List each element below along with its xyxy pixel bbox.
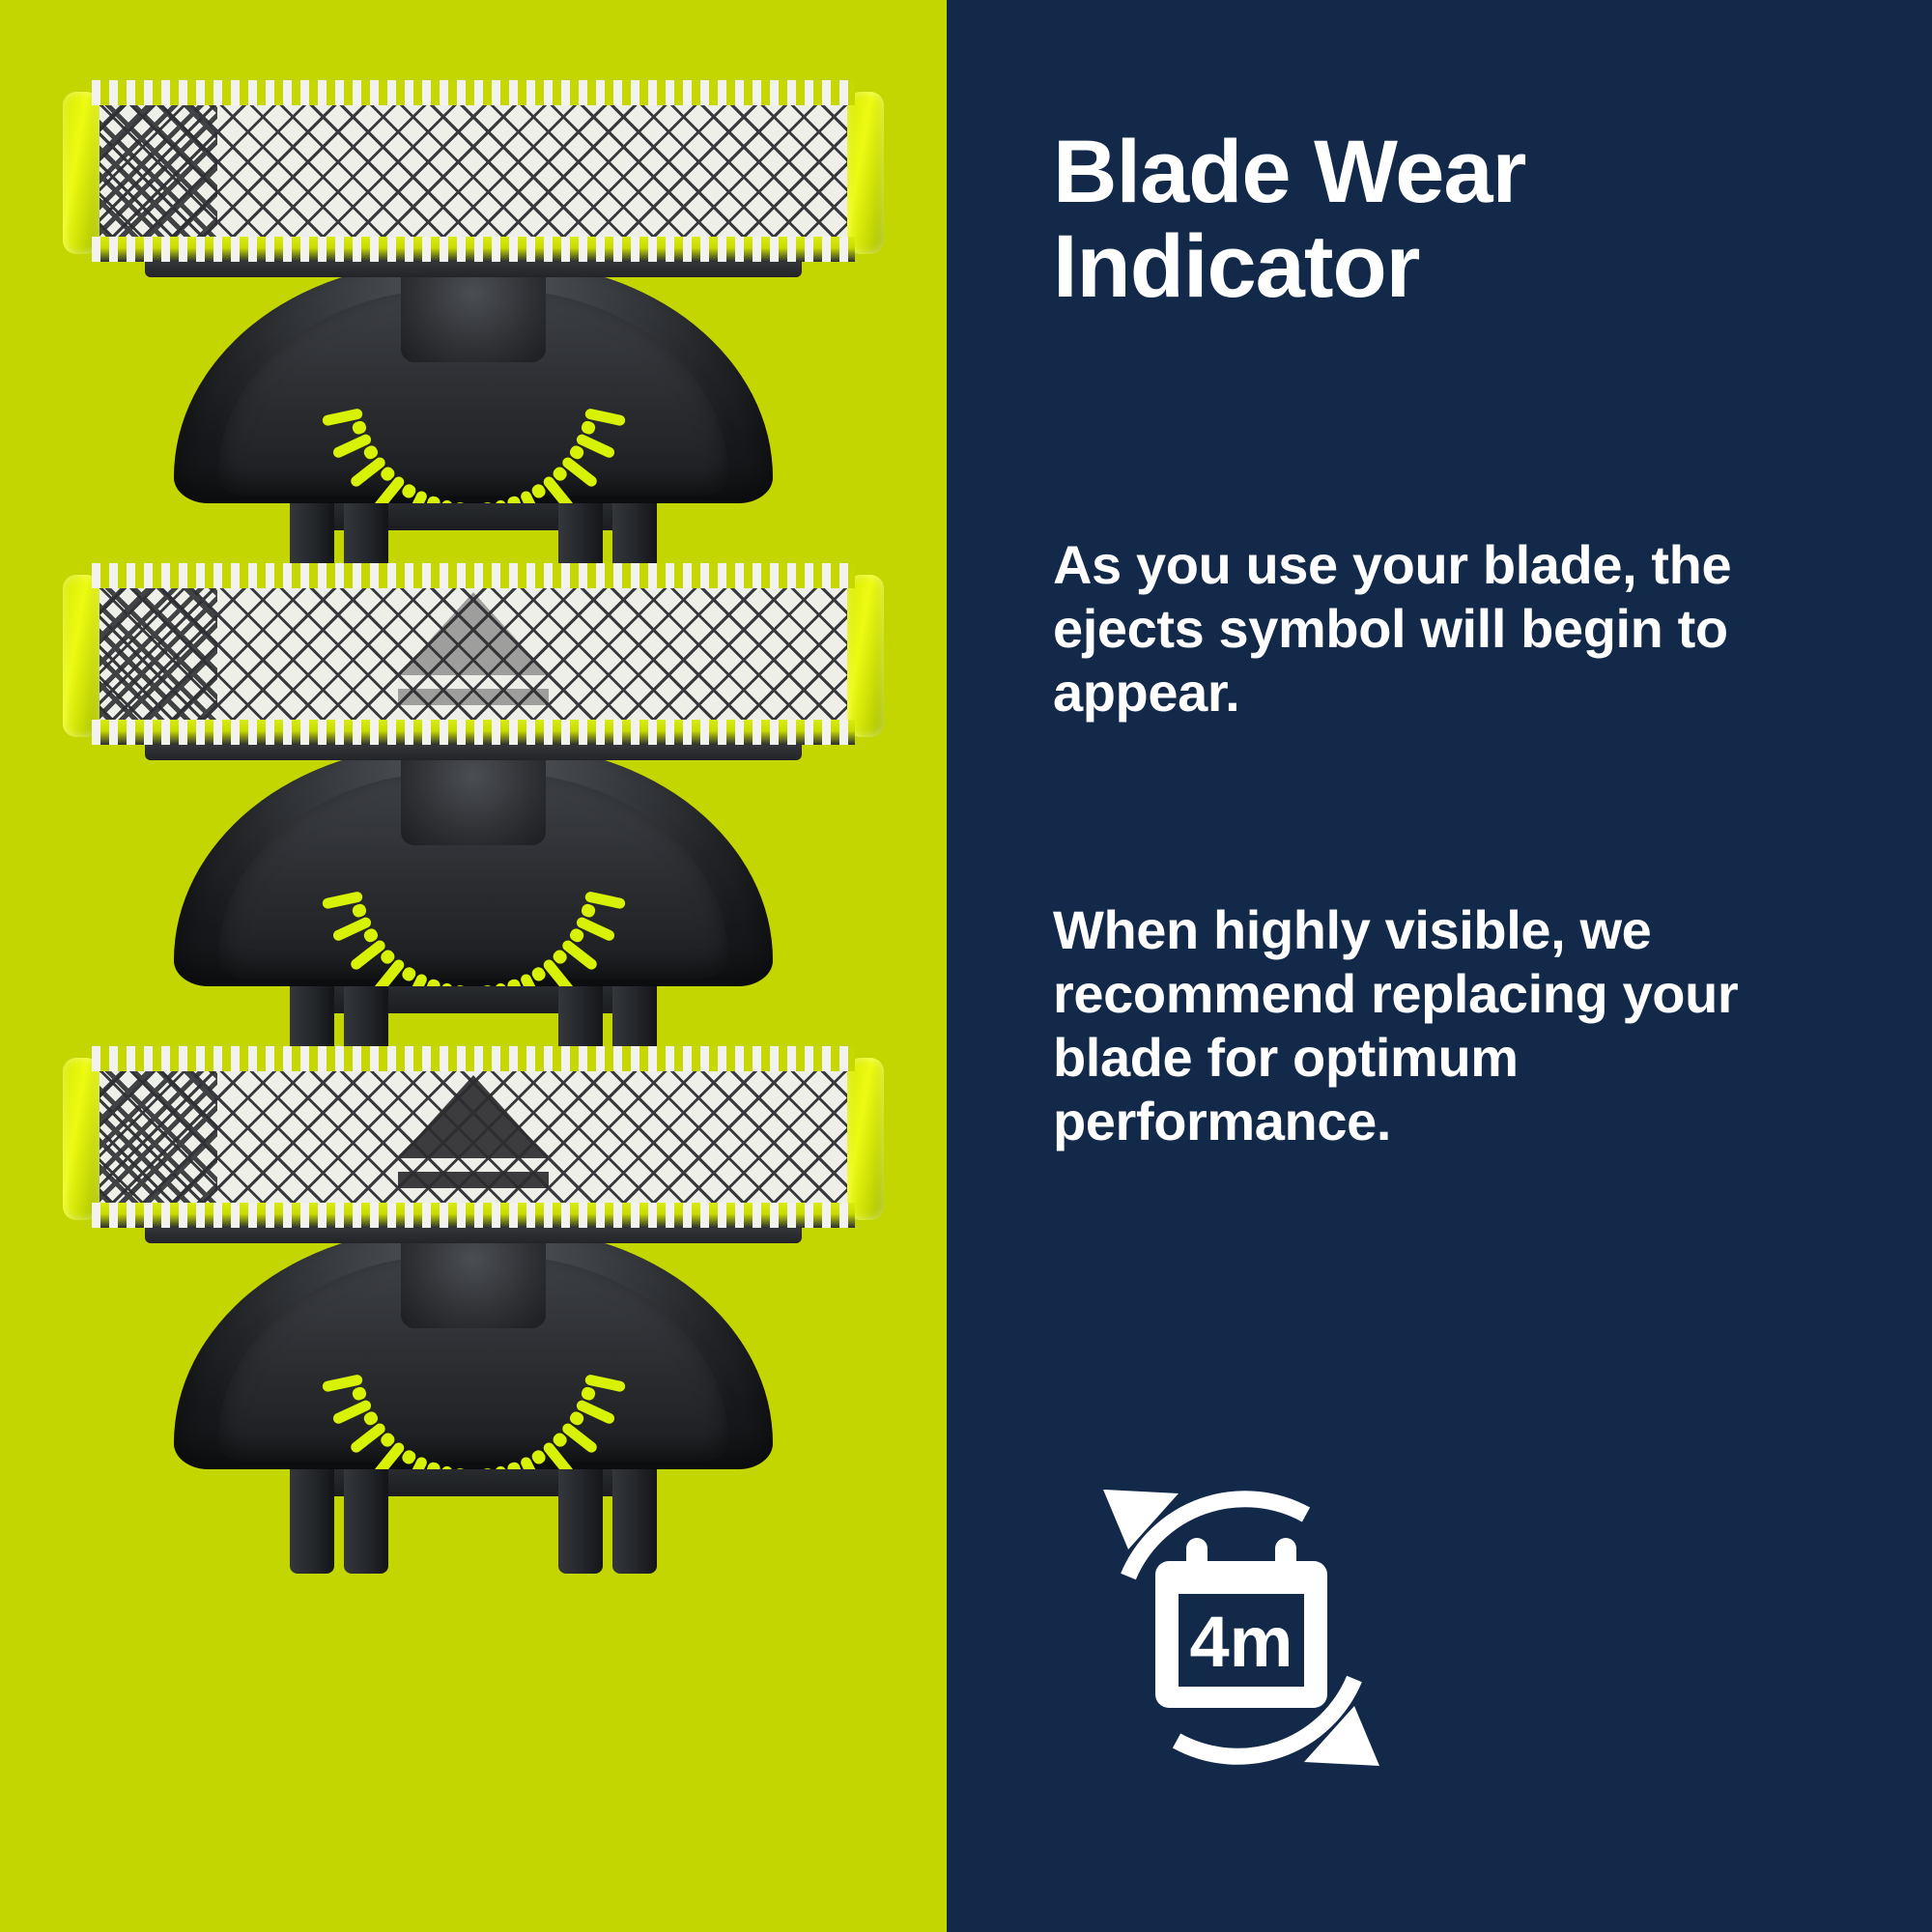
blade-mesh-dense-edge	[92, 1060, 217, 1214]
wear-tick-dot	[480, 985, 495, 986]
wear-tick-dot	[505, 1461, 522, 1469]
blade-cartridge	[53, 555, 894, 749]
eject-bar-icon	[398, 689, 549, 705]
calendar-month-label: 4m	[1190, 1602, 1293, 1682]
blade-endcap-right-icon	[847, 1058, 884, 1220]
blade-cartridge	[53, 1038, 894, 1232]
wear-tick-dot	[425, 495, 441, 503]
blade-endcap-left-icon	[63, 575, 99, 737]
blade-teeth-bottom-icon	[92, 1203, 855, 1228]
blade-teeth-top-icon	[92, 563, 855, 588]
left-green-panel	[0, 0, 947, 1932]
eject-symbol-icon	[386, 1075, 560, 1191]
holder-leg	[558, 1458, 603, 1574]
blade-stage-replace	[53, 1038, 894, 1232]
blade-stage-new	[53, 72, 894, 266]
wear-tick-dot	[453, 985, 468, 986]
wear-tick-dot	[425, 978, 441, 986]
blade-stage-worn	[53, 555, 894, 749]
wear-tick-dot	[453, 502, 468, 503]
blade-mesh	[92, 94, 855, 248]
eject-triangle-icon	[398, 592, 549, 675]
blade-mesh	[92, 577, 855, 731]
blade-mesh	[92, 1060, 855, 1214]
blade-endcap-right-icon	[847, 92, 884, 254]
wear-tick-dot	[480, 1468, 495, 1469]
blade-teeth-top-icon	[92, 80, 855, 105]
holder-leg	[290, 1458, 334, 1574]
eject-bar-icon	[398, 1172, 549, 1188]
blade-teeth-bottom-icon	[92, 237, 855, 262]
wear-tick-dot	[425, 1461, 441, 1469]
wear-tick-dot	[505, 495, 522, 503]
blade-endcap-left-icon	[63, 92, 99, 254]
replace-every-4-months-icon: 4m	[1082, 1468, 1401, 1787]
eject-symbol-icon	[386, 592, 560, 708]
blade-teeth-bottom-icon	[92, 720, 855, 745]
wear-tick-dot	[505, 978, 522, 986]
description-paragraph-2: When highly visible, we recommend replac…	[1053, 898, 1855, 1153]
blade-holder	[174, 1228, 773, 1508]
blade-wear-indicator-infographic: Blade Wear Indicator As you use your bla…	[0, 0, 1932, 1932]
wear-tick-dot	[480, 502, 495, 503]
blade-endcap-left-icon	[63, 1058, 99, 1220]
page-title: Blade Wear Indicator	[1053, 126, 1845, 314]
eject-triangle-icon	[398, 1075, 549, 1158]
blade-teeth-top-icon	[92, 1046, 855, 1071]
description-paragraph-1: As you use your blade, the ejects symbol…	[1053, 533, 1855, 724]
blade-endcap-right-icon	[847, 575, 884, 737]
blade-cartridge	[53, 72, 894, 266]
blade-mesh-dense-edge	[92, 94, 217, 248]
blade-holder	[174, 745, 773, 1025]
blade-holder	[174, 262, 773, 542]
blade-mesh-dense-edge	[92, 577, 217, 731]
wear-tick-dot	[453, 1468, 468, 1469]
holder-leg	[344, 1458, 388, 1574]
holder-leg	[612, 1458, 657, 1574]
